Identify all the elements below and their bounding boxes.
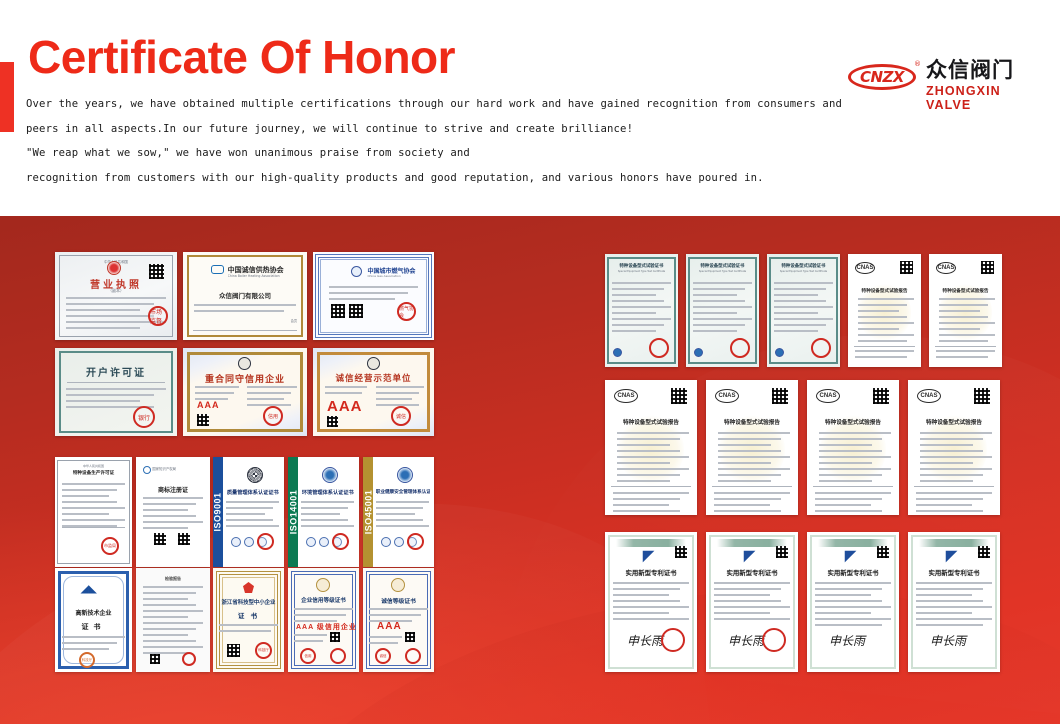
cert-type-test-report-3[interactable]: 特种设备型式试验证书 Special Equipment Type Test C… — [767, 254, 840, 367]
cert-high-tech-enterprise[interactable]: ◢◣ 高新技术企业 证书 科技厅 — [55, 568, 132, 672]
iso-label: ISO14001 — [288, 490, 298, 535]
page-header: Certificate Of Honor Over the years, we … — [0, 0, 1060, 216]
cert-title: 特种设备型式试验报告 — [813, 418, 894, 426]
intro-line-3: "We reap what we sow," we have won unani… — [26, 141, 826, 166]
intro-paragraph: Over the years, we have obtained multipl… — [26, 92, 826, 190]
logo-mark-text: CNZX — [848, 64, 916, 90]
cert-utility-model-patent-2[interactable]: ◤ 实用新型专利证书 申长雨 — [706, 532, 798, 672]
cert-seal: 会员 — [251, 318, 297, 323]
cnas-logo-icon: CNAS — [936, 262, 956, 274]
cert-trademark-registration[interactable]: 国家知识产权局 商标注册证 — [136, 457, 210, 567]
cert-seal: 银行 — [133, 406, 155, 428]
cert-type-test-report-1[interactable]: 特种设备型式试验证书 Special Equipment Type Test C… — [605, 254, 678, 367]
cert-subtitle: 证书 — [60, 622, 128, 632]
cert-quality-inspection-report[interactable]: 检验报告 — [136, 568, 210, 672]
cert-title: 特种设备型式试验报告 — [852, 288, 916, 294]
cert-seal: 诚信 — [391, 406, 411, 426]
cert-cnas-test-report-1[interactable]: CNAS 特种设备型式试验报告 — [848, 254, 921, 367]
logo-chinese-name: 众信阀门 — [926, 57, 1014, 83]
cert-subtitle: （副本） — [65, 288, 168, 294]
cert-title: 特种设备型式试验证书 — [771, 263, 835, 269]
cert-cnas-test-report-2[interactable]: CNAS 特种设备型式试验报告 — [929, 254, 1002, 367]
cert-grade: AAA — [327, 398, 363, 415]
cert-issuer: 国家知识产权局 — [152, 466, 204, 471]
cert-seal: 信用 — [300, 648, 316, 664]
cert-subtitle: Special Equipment Type Test Certificate — [611, 270, 672, 273]
patent-signature: 申长雨 — [829, 632, 865, 649]
header-accent-bar — [0, 62, 14, 132]
cert-bank-account-permit[interactable]: 开户许可证 银行 — [55, 348, 177, 436]
cert-enterprise-credit-rating[interactable]: 企业信用等级证书 AAA 级信用企业 信用 — [288, 568, 359, 672]
cert-seal: 科技厅 — [255, 642, 272, 659]
cnas-logo-icon: CNAS — [917, 389, 941, 403]
patent-signature: 申长雨 — [930, 632, 966, 649]
cert-utility-model-patent-3[interactable]: ◤ 实用新型专利证书 申长雨 — [807, 532, 899, 672]
cnas-logo-icon: CNAS — [614, 389, 638, 403]
cert-seal: 信用 — [263, 406, 283, 426]
cert-subtitle: China Gas Association — [367, 274, 424, 278]
cert-china-boiler-heating-association[interactable]: 中国诚信供热协会 China Boiler Heating Associatio… — [183, 252, 307, 340]
intro-line-4: recognition from customers with our high… — [26, 166, 826, 191]
company-logo: CNZX ® 众信阀门 ZHONGXIN VALVE — [848, 58, 1028, 106]
registered-trademark-icon: ® — [914, 60, 921, 68]
cert-title: 实用新型专利证书 — [914, 568, 995, 577]
cert-subtitle: 证 书 — [217, 610, 280, 620]
cert-honest-operation-demonstration-unit[interactable]: 诚信经营示范单位 AAA 诚信 — [313, 348, 434, 436]
cert-title: 开户许可证 — [62, 364, 169, 379]
cert-title: 高新技术企业 — [60, 608, 128, 617]
cert-cnas-test-report-6[interactable]: CNAS 特种设备型式试验报告 — [908, 380, 1000, 515]
cert-seal: 诚信 — [375, 648, 391, 664]
cert-title: 浙江省科技型中小企业 — [217, 598, 280, 606]
cert-cnas-test-report-3[interactable]: CNAS 特种设备型式试验报告 — [605, 380, 697, 515]
cert-grade: AAA — [197, 400, 220, 410]
cert-recipient: 众信阀门有限公司 — [190, 290, 299, 300]
certificate-of-honor-page: Certificate Of Honor Over the years, we … — [0, 0, 1060, 724]
cert-title: 实用新型专利证书 — [813, 568, 894, 577]
cert-utility-model-patent-4[interactable]: ◤ 实用新型专利证书 申长雨 — [908, 532, 1000, 672]
cert-business-license[interactable]: 中华人民共和国 营业执照 （副本） 市场监督 — [55, 252, 177, 340]
cert-title: 企业信用等级证书 — [292, 596, 355, 604]
cert-title: 环境管理体系认证证书 — [301, 489, 355, 496]
cert-contract-abiding-enterprise[interactable]: 重合同守信用企业 AAA 信用 — [183, 348, 307, 436]
patent-signature: 申长雨 — [627, 632, 663, 649]
cert-grade: AAA — [377, 621, 402, 632]
cert-cnas-test-report-5[interactable]: CNAS 特种设备型式试验报告 — [807, 380, 899, 515]
cert-subtitle: 中华人民共和国 — [61, 464, 126, 468]
cert-seal: 市场监督 — [148, 306, 168, 326]
cert-title: 商标注册证 — [140, 485, 205, 494]
cert-subtitle: Special Equipment Type Test Certificate — [773, 270, 834, 273]
cert-special-equipment-manufacture-license[interactable]: 中华人民共和国 特种设备生产许可证 市监局 — [55, 457, 132, 567]
cert-utility-model-patent-1[interactable]: ◤ 实用新型专利证书 申长雨 — [605, 532, 697, 672]
iso-label: ISO45001 — [363, 490, 373, 535]
intro-line-1: Over the years, we have obtained multipl… — [26, 92, 826, 117]
cert-china-gas-association[interactable]: 中国城市燃气协会 China Gas Association 燃气协会 — [313, 252, 434, 340]
logo-english-name: ZHONGXIN VALVE — [926, 84, 1028, 112]
cert-seal: 科技厅 — [79, 652, 95, 668]
cert-title: 实用新型专利证书 — [712, 568, 793, 577]
cert-title: 特种设备型式试验报告 — [712, 418, 793, 426]
cert-title: 特种设备生产许可证 — [60, 470, 128, 476]
cert-title: 诚信经营示范单位 — [320, 372, 427, 384]
cert-type-test-report-2[interactable]: 特种设备型式试验证书 Special Equipment Type Test C… — [686, 254, 759, 367]
cert-title: 职业健康安全管理体系认证证书 — [376, 489, 430, 495]
patent-signature: 申长雨 — [728, 632, 764, 649]
cert-title: 质量管理体系认证证书 — [226, 489, 280, 496]
cert-title: 特种设备型式试验报告 — [914, 418, 995, 426]
cert-subtitle: China Boiler Heating Association — [228, 274, 297, 278]
cnzx-oval-icon: CNZX — [848, 64, 916, 90]
cert-integrity-rating[interactable]: 诚信等级证书 AAA 诚信 — [363, 568, 434, 672]
cert-title: 特种设备型式试验证书 — [690, 263, 754, 269]
cert-cnas-test-report-4[interactable]: CNAS 特种设备型式试验报告 — [706, 380, 798, 515]
cert-title: 重合同守信用企业 — [190, 372, 299, 385]
iso-label: ISO9001 — [213, 492, 223, 531]
cert-iso14001[interactable]: ISO14001 环境管理体系认证证书 — [288, 457, 359, 567]
page-title: Certificate Of Honor — [28, 34, 455, 80]
cert-zhejiang-sci-tech-sme[interactable]: 浙江省科技型中小企业 证 书 科技厅 — [213, 568, 284, 672]
intro-line-2: peers in all aspects.In our future journ… — [26, 117, 826, 142]
cert-iso9001[interactable]: ISO9001 质量管理体系认证证书 — [213, 457, 284, 567]
cert-iso45001[interactable]: ISO45001 职业健康安全管理体系认证证书 — [363, 457, 434, 567]
cert-title: 特种设备型式试验报告 — [611, 418, 692, 426]
cert-title: 诚信等级证书 — [367, 596, 430, 605]
cert-grade: AAA 级信用企业 — [296, 622, 357, 632]
cert-title: 检验报告 — [140, 576, 205, 582]
cnas-logo-icon: CNAS — [816, 389, 840, 403]
cert-title: 特种设备型式试验证书 — [609, 263, 673, 269]
cert-title: 特种设备型式试验报告 — [933, 288, 997, 294]
cert-title: 实用新型专利证书 — [611, 568, 692, 577]
cnas-logo-icon: CNAS — [855, 262, 875, 274]
cert-subtitle: Special Equipment Type Test Certificate — [692, 270, 753, 273]
cert-seal: 燃气协会 — [397, 302, 416, 321]
cnas-logo-icon: CNAS — [715, 389, 739, 403]
cert-seal: 市监局 — [101, 537, 119, 555]
